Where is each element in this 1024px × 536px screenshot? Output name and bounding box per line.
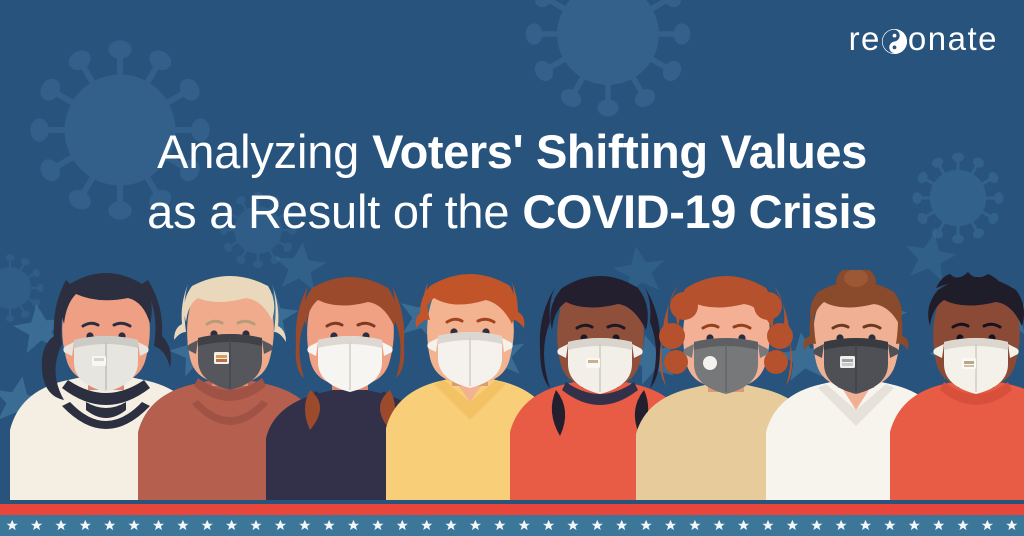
- headline-line-1-bold: Voters' Shifting Values: [372, 125, 867, 178]
- headline-line-1-light: Analyzing: [157, 125, 359, 178]
- headline-line-2-bold: COVID-19 Crisis: [522, 185, 876, 238]
- hero-banner: re onate Analyzing Voters' Shifting Valu…: [0, 0, 1024, 536]
- headline-line-1: Analyzing Voters' Shifting Values: [0, 128, 1024, 176]
- face-mask-3: [307, 336, 392, 392]
- red-flag-stripe: [0, 504, 1024, 515]
- swirl-circle-s-icon: [882, 29, 907, 54]
- brand-logo-text-suffix: onate: [908, 22, 998, 55]
- white-star-band: [0, 515, 1024, 536]
- masked-people-illustration: [0, 270, 1024, 500]
- face-mask-4: [427, 332, 512, 388]
- headline-line-2: as a Result of the COVID-19 Crisis: [0, 188, 1024, 236]
- brand-logo-text-prefix: re: [849, 22, 881, 55]
- page-title: Analyzing Voters' Shifting Values as a R…: [0, 128, 1024, 236]
- face-mask-6: [683, 338, 768, 394]
- virus-icon-top-center: [526, 0, 690, 116]
- headline-line-2-light: as a Result of the: [147, 185, 509, 238]
- person-8: [890, 272, 1024, 500]
- brand-logo[interactable]: re onate: [849, 22, 998, 55]
